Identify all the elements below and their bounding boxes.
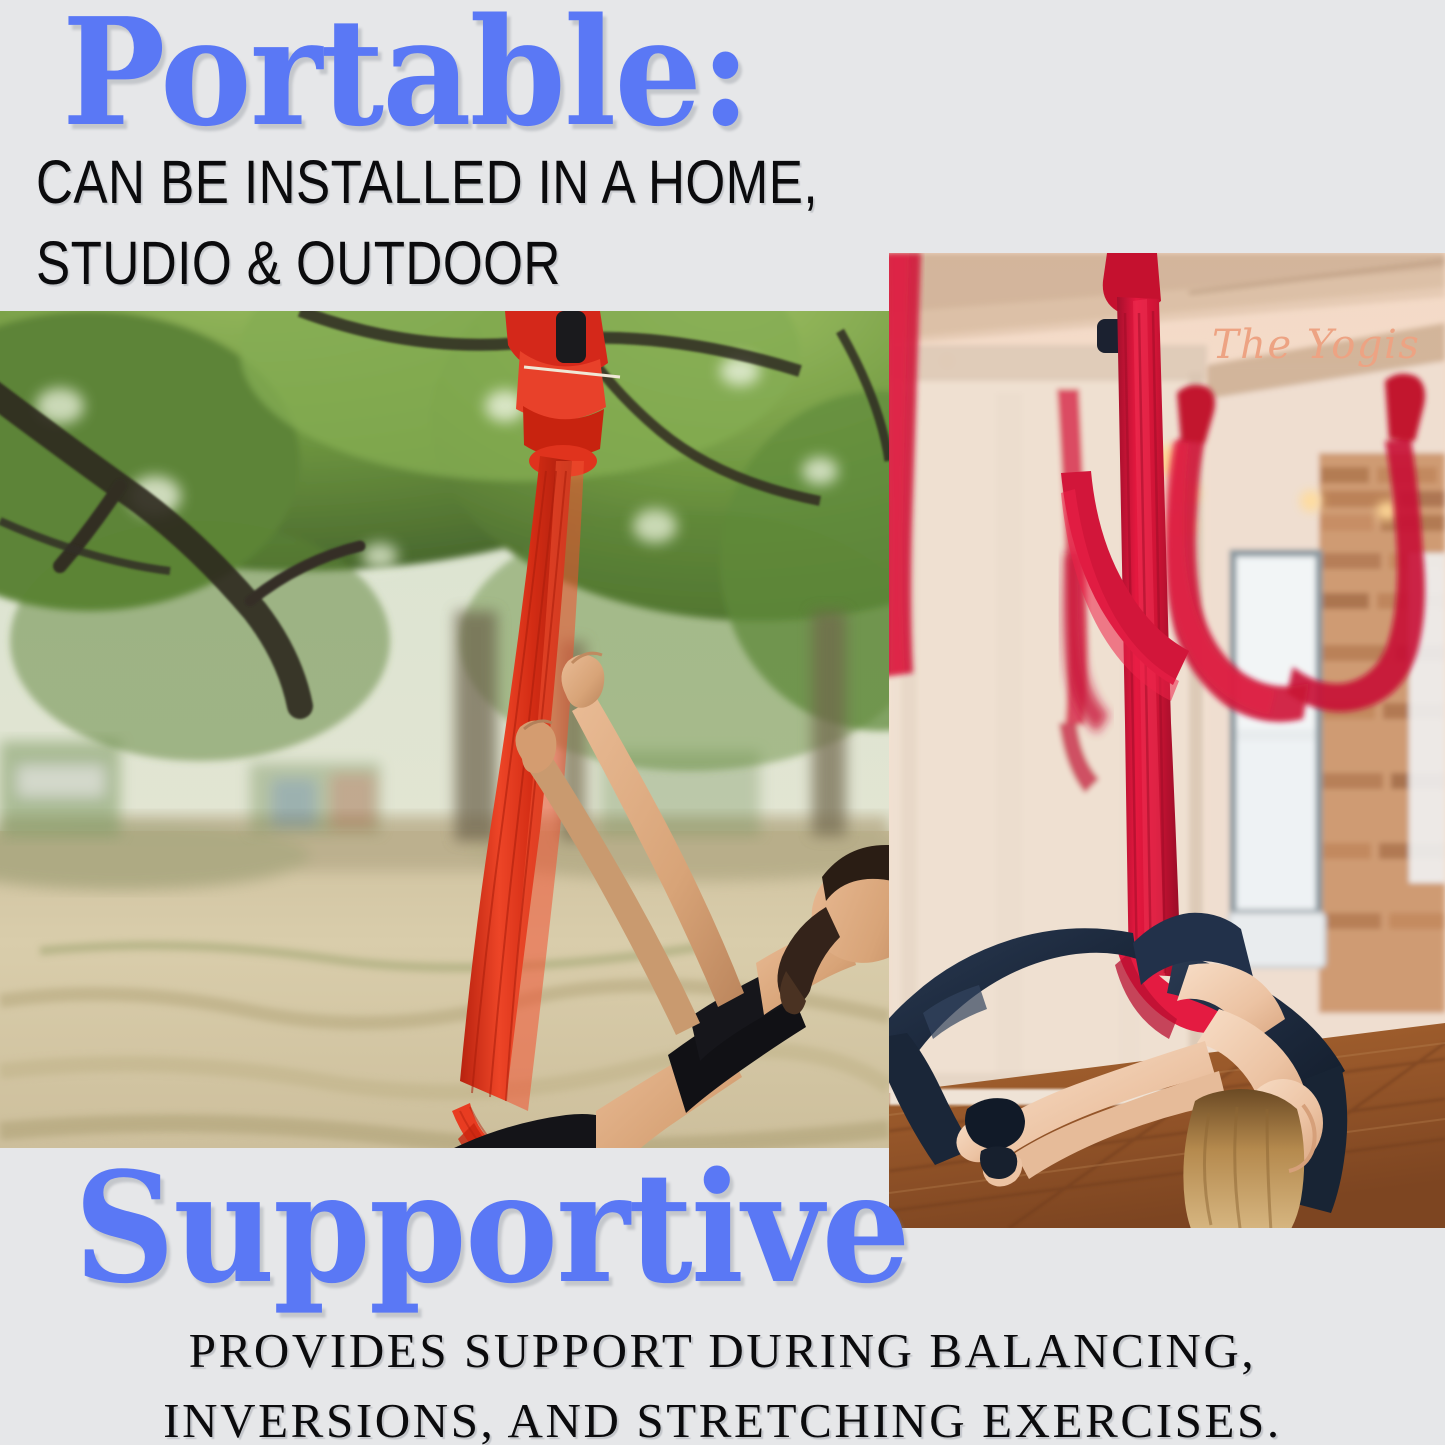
subtitle-line-1: CAN BE INSTALLED IN A HOME, <box>36 142 842 223</box>
subtitle-line-2: STUDIO & OUTDOOR <box>36 223 842 304</box>
page-headline-supportive: Supportive <box>74 1152 909 1304</box>
page-headline-portable: Portable: <box>62 0 749 146</box>
photo-outdoor-aerial-yoga <box>0 311 889 1148</box>
infographic-canvas: Portable: CAN BE INSTALLED IN A HOME, ST… <box>0 0 1445 1445</box>
caption-line-2: INVERSIONS, AND STRETCHING EXERCISES. <box>0 1386 1445 1445</box>
studio-scene-illustration <box>889 253 1445 1228</box>
subtitle-portable: CAN BE INSTALLED IN A HOME, STUDIO & OUT… <box>36 142 842 304</box>
caption-supportive: PROVIDES SUPPORT DURING BALANCING, INVER… <box>0 1316 1445 1445</box>
outdoor-scene-illustration <box>0 311 889 1148</box>
caption-line-1: PROVIDES SUPPORT DURING BALANCING, <box>0 1316 1445 1386</box>
photo-studio-aerial-yoga: The Yogis <box>889 253 1445 1228</box>
